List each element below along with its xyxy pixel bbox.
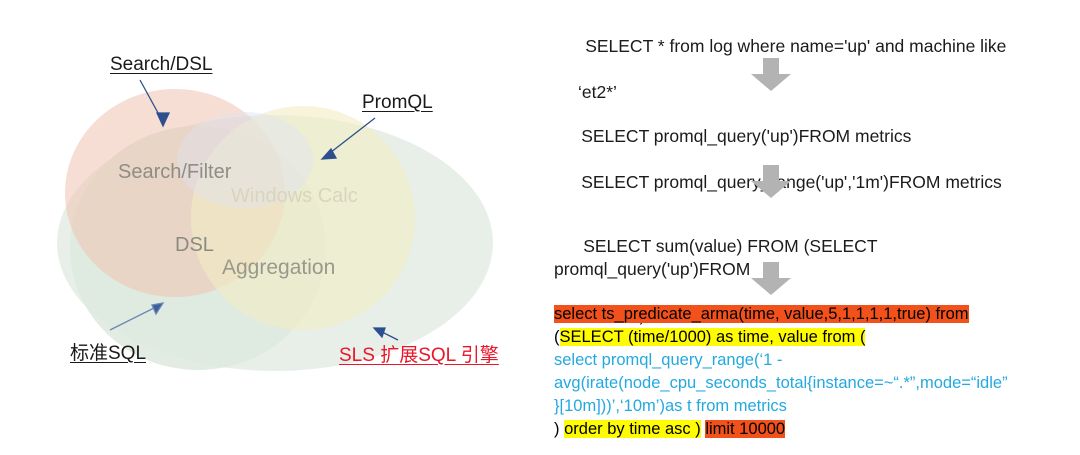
venn-region-search-filter: Search/Filter — [118, 161, 231, 184]
venn-callout-sls-engine: SLS 扩展SQL 引擎 — [339, 340, 499, 367]
sql-step-3-line-1: SELECT sum(value) FROM (SELECT promql_qu… — [554, 236, 882, 279]
sql-step-1-line-2: ‘et2*’ — [556, 81, 1056, 104]
venn-region-windows-calc: Windows Calc — [231, 185, 358, 208]
code-line-1-seg-0: select ts_predicate_arma(time, value,5,1… — [554, 305, 969, 323]
venn-region-aggregation: Aggregation — [222, 256, 335, 280]
sql-step-2: SELECT promql_query('up')FROM metrics SE… — [552, 102, 1072, 217]
code-line-2: (SELECT (time/1000) as time, value from … — [554, 326, 1069, 349]
code-line-4: avg(irate(node_cpu_seconds_total{instanc… — [554, 372, 1069, 395]
venn-callout-search-dsl: Search/DSL — [110, 54, 212, 76]
code-line-2-seg-1: SELECT (time/1000) as time, value from ( — [560, 328, 866, 346]
code-line-5: }[10m]))’,‘10m’)as t from metrics — [554, 395, 1069, 418]
venn-callout-standard-sql: 标准SQL — [70, 338, 146, 365]
venn-circles-svg — [0, 0, 540, 455]
code-line-5-seg-0: }[10m]))’,‘10m’)as t from metrics — [554, 397, 787, 415]
venn-region-dsl: DSL — [175, 234, 214, 257]
flow-arrow-1 — [750, 58, 792, 92]
venn-callout-promql: PromQL — [362, 92, 433, 114]
code-line-3: select promql_query_range(‘1 - — [554, 349, 1069, 372]
code-line-1: select ts_predicate_arma(time, value,5,1… — [554, 303, 1069, 326]
venn-diagram-panel: Search/Filter Windows Calc DSL Aggregati… — [0, 0, 540, 455]
final-query-code-block: select ts_predicate_arma(time, value,5,1… — [554, 303, 1069, 442]
flow-arrow-2 — [750, 165, 792, 199]
code-line-6-seg-0: ) — [554, 420, 564, 438]
sql-step-2-line-1: SELECT promql_query('up')FROM metrics — [581, 126, 911, 146]
code-line-6-seg-1: order by time asc ) — [564, 420, 701, 438]
slide-canvas: Search/Filter Windows Calc DSL Aggregati… — [0, 0, 1080, 455]
sql-flow-panel: SELECT * from log where name='up' and ma… — [540, 0, 1080, 455]
code-line-3-seg-0: select promql_query_range(‘1 - — [554, 351, 782, 369]
code-line-6-seg-3: limit 10000 — [705, 420, 785, 438]
code-line-2-seg-0: ( — [554, 328, 560, 346]
code-line-6: ) order by time asc ) limit 10000 — [554, 418, 1069, 441]
flow-arrow-3 — [750, 262, 792, 296]
sql-step-1-line-1: SELECT * from log where name='up' and ma… — [585, 36, 1006, 56]
code-line-4-seg-0: avg(irate(node_cpu_seconds_total{instanc… — [554, 374, 1008, 392]
